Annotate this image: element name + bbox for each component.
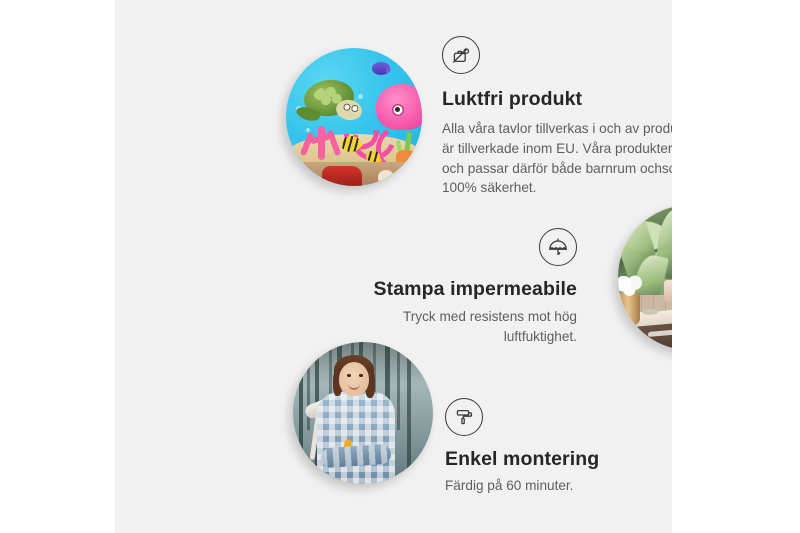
image-woman-with-paint-roller — [293, 342, 433, 484]
feature-odourless: Luktfri produkt Alla våra tavlor tillver… — [442, 36, 672, 198]
mirror-panel — [664, 280, 672, 302]
image-bathroom-tropical-wallpaper — [618, 205, 672, 350]
image-underwater-childrens-mural — [286, 48, 422, 186]
striped-fish-icon — [341, 136, 361, 152]
white-flowers — [618, 275, 646, 297]
feature-waterproof: Stampa impermeabile Tryck med resistens … — [327, 228, 577, 347]
foreground-object — [322, 166, 362, 186]
plaid-shirt — [317, 392, 395, 484]
striped-fish-icon — [366, 151, 380, 162]
feature-body: Tryck med resistens mot hög luftfuktighe… — [327, 307, 577, 346]
face — [339, 362, 369, 396]
feature-body: Färdig på 60 minuter. — [445, 476, 672, 496]
vase — [620, 292, 640, 326]
paint-roller-icon — [445, 398, 483, 436]
underwater-scene — [286, 48, 422, 186]
bubble-icon — [358, 94, 363, 99]
umbrella-icon — [539, 228, 577, 266]
feature-assembly: Enkel montering Färdig på 60 minuter. — [445, 398, 672, 496]
feature-body: Alla våra tavlor tillverkas i och av pro… — [442, 119, 672, 198]
purple-fish-icon — [372, 62, 390, 75]
content-panel: Luktfri produkt Alla våra tavlor tillver… — [115, 0, 672, 533]
coral-icon — [300, 120, 346, 160]
eye — [359, 374, 363, 377]
promo-banner: Luktfri produkt Alla våra tavlor tillver… — [0, 0, 800, 533]
no-fragrance-icon — [442, 36, 480, 74]
bathroom-scene — [618, 205, 672, 350]
feature-title: Enkel montering — [445, 447, 672, 471]
shell-icon — [378, 170, 394, 184]
feature-title: Stampa impermeabile — [327, 277, 577, 301]
octopus-eye — [392, 104, 404, 116]
painter-scene — [293, 342, 433, 484]
eye — [347, 374, 351, 377]
feature-title: Luktfri produkt — [442, 87, 672, 111]
